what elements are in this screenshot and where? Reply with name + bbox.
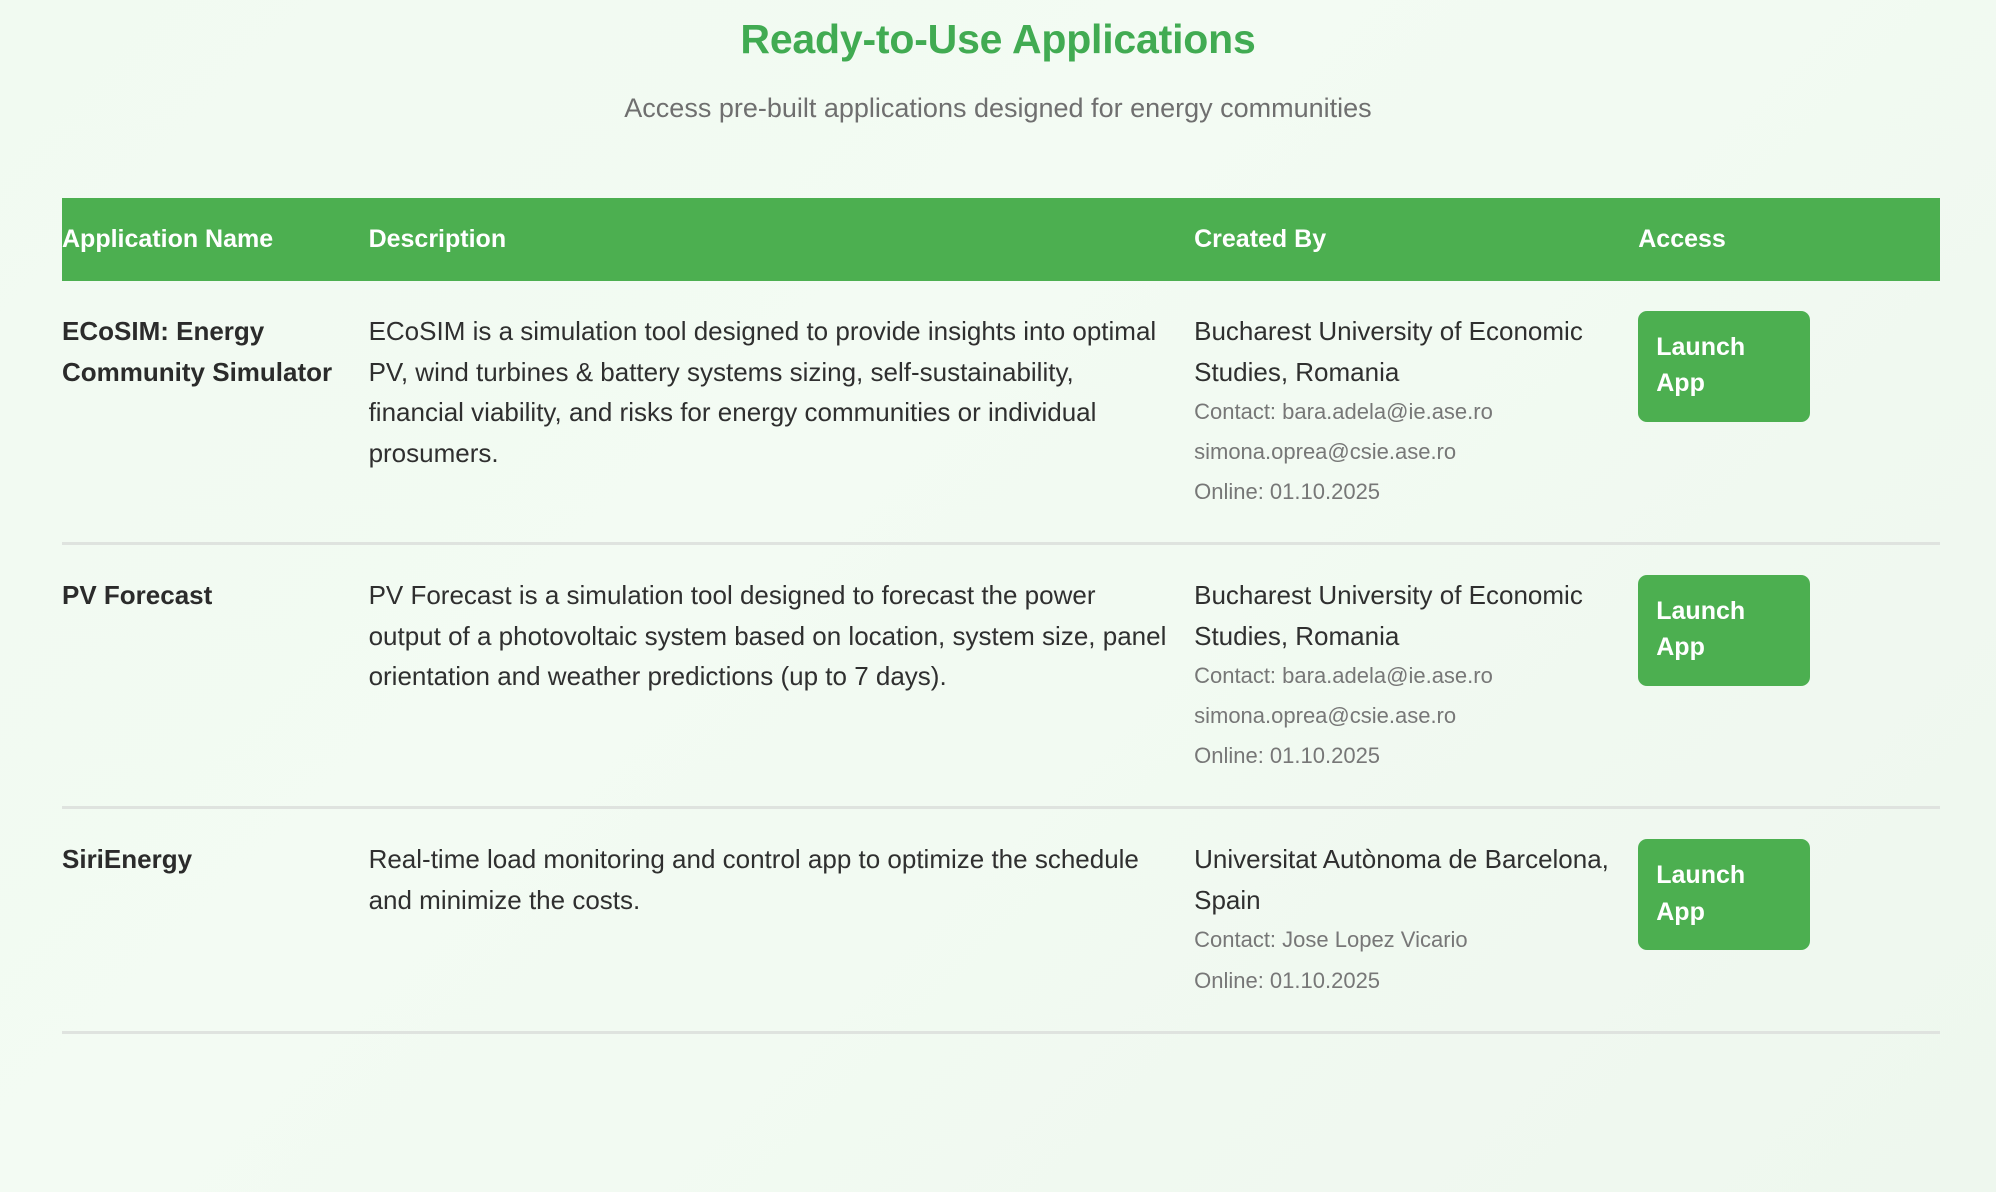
app-name-cell: SiriEnergy xyxy=(62,808,369,1032)
contact-text: Contact: bara.adela@ie.ase.ro xyxy=(1194,656,1616,696)
applications-table-container: Application Name Description Created By … xyxy=(62,198,1940,1034)
table-header-row: Application Name Description Created By … xyxy=(62,198,1940,281)
app-description-cell: ECoSIM is a simulation tool designed to … xyxy=(369,281,1195,544)
launch-app-button[interactable]: Launch App xyxy=(1638,575,1810,686)
app-created-by-cell: Universitat Autònoma de Barcelona, Spain… xyxy=(1194,808,1638,1032)
contact-secondary-text: simona.oprea@csie.ase.ro xyxy=(1194,696,1616,736)
organization-text: Universitat Autònoma de Barcelona, Spain xyxy=(1194,844,1609,915)
app-description-cell: Real-time load monitoring and control ap… xyxy=(369,808,1195,1032)
launch-app-button-label-line1: Launch xyxy=(1656,593,1794,629)
table-row: ECoSIM: Energy Community Simulator ECoSI… xyxy=(62,281,1940,544)
launch-app-button-label-line1: Launch xyxy=(1656,329,1794,365)
launch-app-button-label-line2: App xyxy=(1656,894,1794,930)
table-body: ECoSIM: Energy Community Simulator ECoSI… xyxy=(62,281,1940,1032)
ready-to-use-applications-page: Ready-to-Use Applications Access pre-bui… xyxy=(0,0,1996,1192)
launch-app-button-label-line2: App xyxy=(1656,629,1794,665)
app-access-cell: Launch App xyxy=(1638,281,1940,544)
organization-text: Bucharest University of Economic Studies… xyxy=(1194,580,1583,651)
applications-table: Application Name Description Created By … xyxy=(62,198,1940,1034)
app-created-by-cell: Bucharest University of Economic Studies… xyxy=(1194,281,1638,544)
online-date-text: Online: 01.10.2025 xyxy=(1194,961,1616,1001)
table-row: PV Forecast PV Forecast is a simulation … xyxy=(62,544,1940,808)
contact-text: Contact: Jose Lopez Vicario xyxy=(1194,920,1616,960)
column-header-application-name: Application Name xyxy=(62,198,369,281)
online-date-text: Online: 01.10.2025 xyxy=(1194,736,1616,776)
column-header-access: Access xyxy=(1638,198,1940,281)
organization-text: Bucharest University of Economic Studies… xyxy=(1194,316,1583,387)
page-title: Ready-to-Use Applications xyxy=(0,0,1996,65)
column-header-description: Description xyxy=(369,198,1195,281)
table-row: SiriEnergy Real-time load monitoring and… xyxy=(62,808,1940,1032)
app-access-cell: Launch App xyxy=(1638,544,1940,808)
launch-app-button-label-line1: Launch xyxy=(1656,857,1794,893)
column-header-created-by: Created By xyxy=(1194,198,1638,281)
app-name-cell: PV Forecast xyxy=(62,544,369,808)
app-name-cell: ECoSIM: Energy Community Simulator xyxy=(62,281,369,544)
launch-app-button[interactable]: Launch App xyxy=(1638,311,1810,422)
launch-app-button-label-line2: App xyxy=(1656,365,1794,401)
online-date-text: Online: 01.10.2025 xyxy=(1194,472,1616,512)
launch-app-button[interactable]: Launch App xyxy=(1638,839,1810,950)
contact-text: Contact: bara.adela@ie.ase.ro xyxy=(1194,392,1616,432)
table-header: Application Name Description Created By … xyxy=(62,198,1940,281)
page-subtitle: Access pre-built applications designed f… xyxy=(0,65,1996,126)
app-created-by-cell: Bucharest University of Economic Studies… xyxy=(1194,544,1638,808)
app-description-cell: PV Forecast is a simulation tool designe… xyxy=(369,544,1195,808)
app-access-cell: Launch App xyxy=(1638,808,1940,1032)
contact-secondary-text: simona.oprea@csie.ase.ro xyxy=(1194,432,1616,472)
